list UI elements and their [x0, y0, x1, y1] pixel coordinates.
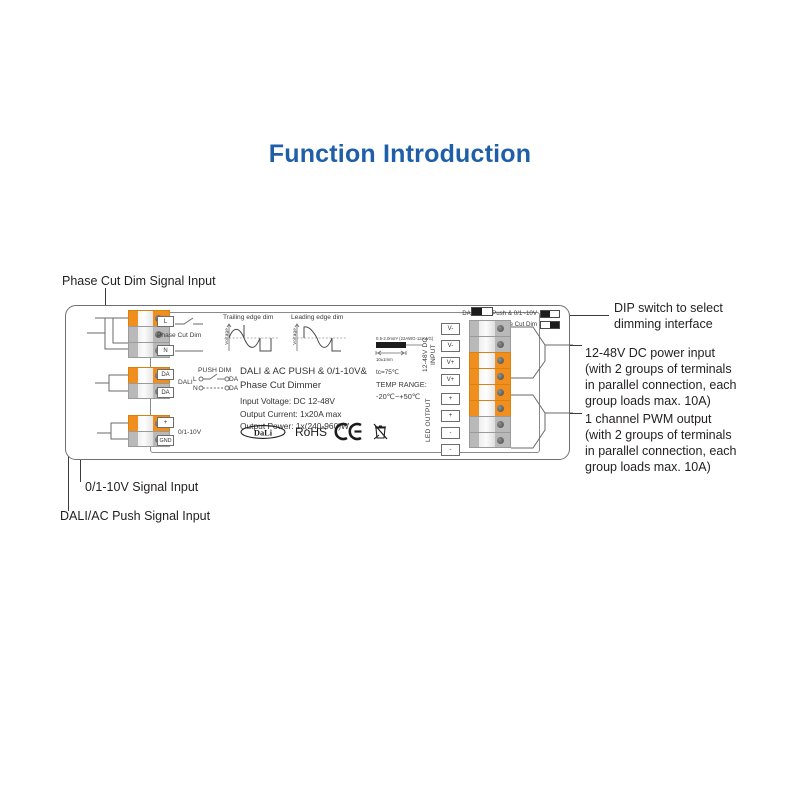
label-terminal-DA-1: DA — [157, 369, 174, 380]
label-phase-cut-dim: Phase Cut Dim — [157, 332, 201, 340]
waveform-label-leading: Leading edge dim — [291, 314, 343, 322]
push-dim-schematic-icon — [198, 373, 232, 393]
terminal-row[interactable] — [469, 416, 511, 432]
label-input-v-minus-2: V- — [441, 340, 460, 352]
terminal-row[interactable] — [469, 432, 511, 448]
label-output-plus-2: + — [441, 410, 460, 422]
weee-bin-icon — [373, 423, 388, 440]
callout-dali-push-input: DALI/AC Push Signal Input — [60, 508, 210, 524]
switch-symbol-icon — [175, 316, 205, 328]
input-section-label: 12-48V DC INPUT — [422, 327, 438, 383]
spec-output-current: Output Current: 1x20A max — [240, 408, 349, 421]
dip-switch-physical[interactable] — [471, 307, 493, 316]
label-0-10v: 0/1-10V — [178, 429, 201, 437]
leader-pwm-output — [570, 413, 582, 414]
label-terminal-N: N — [157, 345, 174, 356]
label-terminal-DA-2: DA — [157, 387, 174, 398]
terminal-row[interactable] — [469, 352, 511, 368]
label-output-minus-1: - — [441, 427, 460, 439]
label-terminal-gnd: GND — [157, 435, 174, 446]
ce-mark-icon — [336, 423, 364, 440]
rohs-logo: RoHS — [295, 425, 327, 439]
temp-range-label: TEMP RANGE: — [376, 380, 427, 389]
wire-strip-length: 10±1mm — [376, 357, 393, 362]
right-wiring-brackets — [511, 305, 586, 460]
push-dim-row1-left: L — [193, 376, 197, 384]
spec-input-voltage: Input Voltage: DC 12-48V — [240, 395, 349, 408]
waveform-trailing-edge-icon — [223, 323, 281, 353]
output-section-label: LED OUTPUT — [425, 393, 433, 447]
label-terminal-L: L — [157, 316, 174, 327]
product-name-line2: Phase Cut Dimmer — [240, 379, 367, 393]
callout-pwm-output: 1 channel PWM output (with 2 groups of t… — [585, 411, 737, 475]
certification-logos: DaLi RoHS — [240, 423, 388, 440]
callout-0-10v-input: 0/1-10V Signal Input — [85, 479, 198, 495]
callout-dip-switch: DIP switch to select dimming interface — [614, 300, 723, 332]
label-terminal-plus: + — [157, 417, 174, 428]
waveform-label-trailing: Trailing edge dim — [223, 314, 273, 322]
dimmer-device: L N Phase Cut Dim DA DA DALI + GND 0/1-1… — [65, 305, 570, 460]
terminal-row[interactable] — [469, 384, 511, 400]
terminal-row[interactable] — [469, 368, 511, 384]
label-input-v-minus-1: V- — [441, 323, 460, 335]
callout-phase-cut-input: Phase Cut Dim Signal Input — [62, 273, 216, 289]
tc-rating: tc=75℃ — [376, 369, 399, 377]
terminal-block-right[interactable] — [469, 320, 511, 448]
label-input-v-plus-1: V+ — [441, 357, 460, 369]
product-name: DALI & AC PUSH & 0/1-10V& Phase Cut Dimm… — [240, 365, 367, 392]
n-line-icon — [175, 345, 205, 357]
temp-range-value: -20℃~+50℃ — [376, 392, 420, 401]
terminal-row[interactable] — [469, 336, 511, 352]
waveform-leading-edge-icon — [291, 323, 349, 353]
dali-logo-icon: DaLi — [240, 425, 286, 439]
label-output-plus-1: + — [441, 393, 460, 405]
left-wiring — [65, 305, 150, 460]
wire-strip-icon — [376, 342, 424, 358]
svg-text:DaLi: DaLi — [254, 428, 273, 437]
callout-power-input: 12-48V DC power input (with 2 groups of … — [585, 345, 737, 409]
waveform-axis-trailing: Voltage — [224, 328, 230, 345]
page-title: Function Introduction — [0, 140, 800, 169]
label-output-minus-2: - — [441, 444, 460, 456]
terminal-row[interactable] — [469, 400, 511, 416]
label-input-v-plus-2: V+ — [441, 374, 460, 386]
waveform-axis-leading: Voltage — [292, 328, 298, 345]
leader-power-input — [570, 345, 582, 346]
label-dali: DALI — [178, 379, 193, 387]
terminal-row[interactable] — [469, 320, 511, 336]
product-name-line1: DALI & AC PUSH & 0/1-10V& — [240, 365, 367, 379]
diagram-canvas: Function Introduction Phase Cut Dim Sign… — [0, 0, 800, 800]
